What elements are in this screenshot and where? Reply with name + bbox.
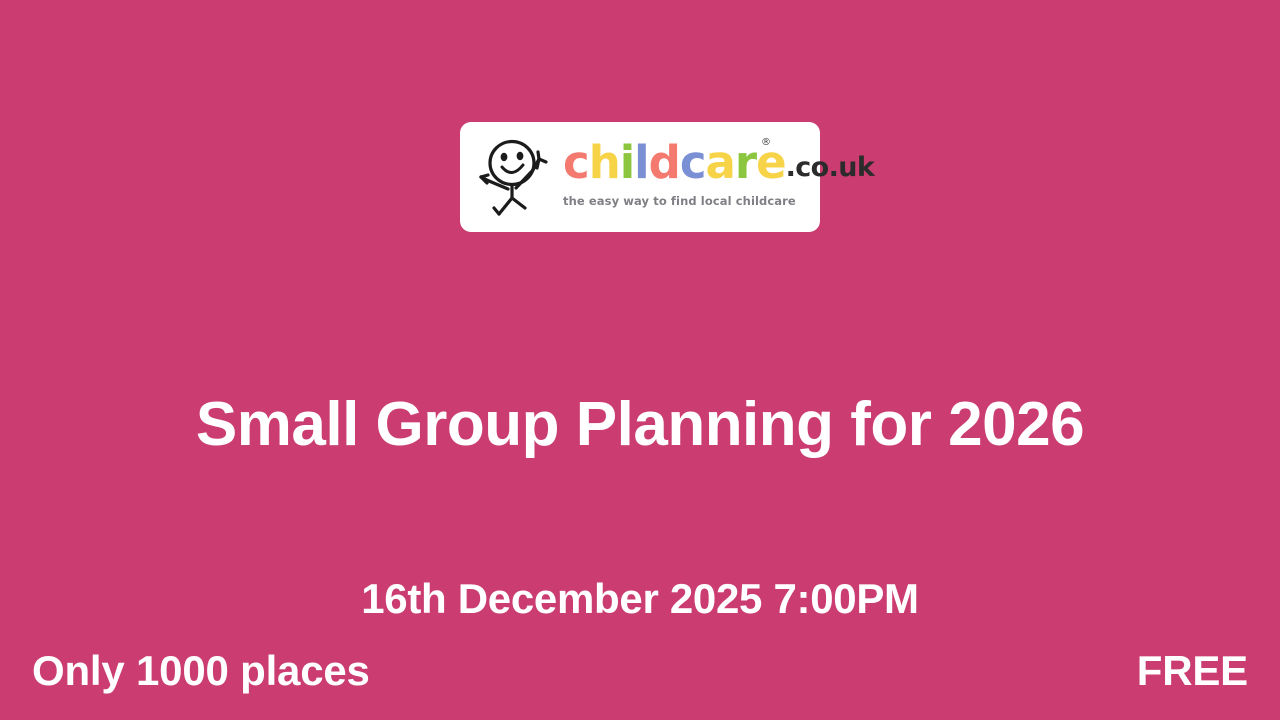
- footer-row: Only 1000 places FREE: [0, 640, 1280, 702]
- wordmark-letter-2: i: [620, 136, 634, 189]
- wordmark-letter-0: c: [563, 136, 589, 189]
- registered-trademark-icon: ®: [761, 138, 771, 148]
- brand-tagline: the easy way to find local childcare: [563, 194, 795, 208]
- event-datetime: 16th December 2025 7:00PM: [0, 569, 1280, 629]
- wordmark-letter-5: c: [680, 136, 706, 189]
- wordmark-letter-4: d: [649, 136, 680, 189]
- brand-wordmark: childcare.co.uk: [563, 140, 874, 193]
- wordmark-letter-6: a: [706, 136, 735, 189]
- price-label: FREE: [1137, 645, 1248, 697]
- page-title: Small Group Planning for 2026: [0, 386, 1280, 464]
- capacity-label: Only 1000 places: [32, 645, 370, 697]
- brand-logo-inner: childcare.co.uk ® the easy way to find l…: [475, 134, 805, 220]
- brand-domain-suffix: .co.uk: [786, 152, 875, 183]
- wordmark-letter-7: r: [735, 136, 756, 189]
- promo-slide: childcare.co.uk ® the easy way to find l…: [0, 0, 1280, 720]
- wordmark-letter-1: h: [589, 136, 620, 189]
- brand-wordmark-block: childcare.co.uk ® the easy way to find l…: [563, 134, 874, 208]
- brand-logo-card: childcare.co.uk ® the easy way to find l…: [460, 122, 820, 232]
- wordmark-letter-3: l: [634, 136, 648, 189]
- stick-figure-smiley-icon: [475, 136, 561, 220]
